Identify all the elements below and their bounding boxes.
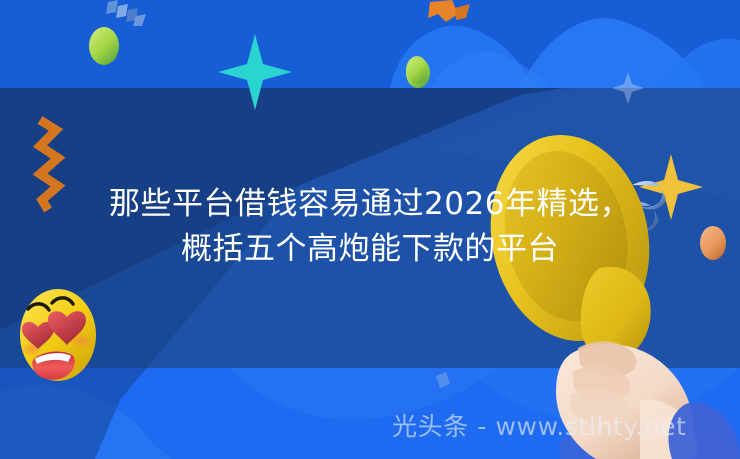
sphere-orange-1 [700, 226, 726, 260]
site-watermark: 光头条 - www.stlhty.net [392, 410, 687, 444]
promo-banner: 那些平台借钱容易通过2026年精选， 概括五个高炮能下款的平台 光头条 - ww… [0, 0, 740, 459]
banner-background-scene [0, 0, 740, 459]
sphere-green-3 [406, 56, 428, 84]
sphere-green-1 [89, 27, 119, 65]
heart-eyes-emoji [14, 283, 102, 387]
